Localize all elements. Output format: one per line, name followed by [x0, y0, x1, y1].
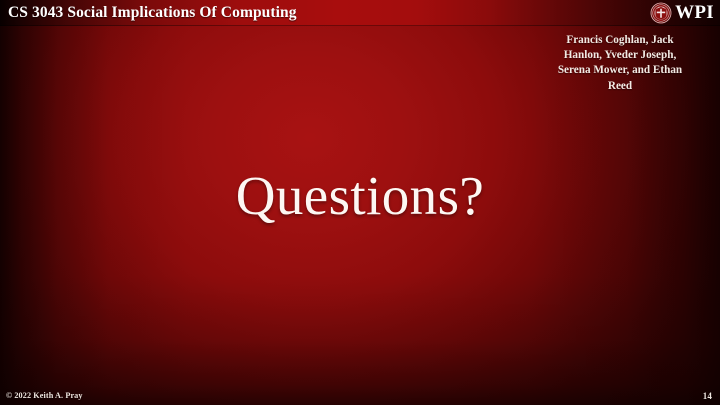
footer-page-number: 14 [703, 391, 712, 401]
footer-copyright: © 2022 Keith A. Pray [6, 391, 83, 401]
presentation-slide: CS 3043 Social Implications Of Computing… [0, 0, 720, 405]
slide-title: Questions? [0, 165, 720, 227]
wpi-logo: WPI [650, 1, 714, 25]
author-line: Hanlon, Yveder Joseph, [538, 48, 702, 63]
author-line: Francis Coghlan, Jack [538, 33, 702, 48]
author-list: Francis Coghlan, Jack Hanlon, Yveder Jos… [538, 33, 702, 94]
author-line: Reed [538, 79, 702, 94]
course-title: CS 3043 Social Implications Of Computing [8, 3, 297, 23]
author-line: Serena Mower, and Ethan [538, 63, 702, 78]
wpi-seal-icon [650, 2, 672, 24]
slide-header-band: CS 3043 Social Implications Of Computing… [0, 0, 720, 26]
wpi-wordmark: WPI [675, 3, 714, 23]
